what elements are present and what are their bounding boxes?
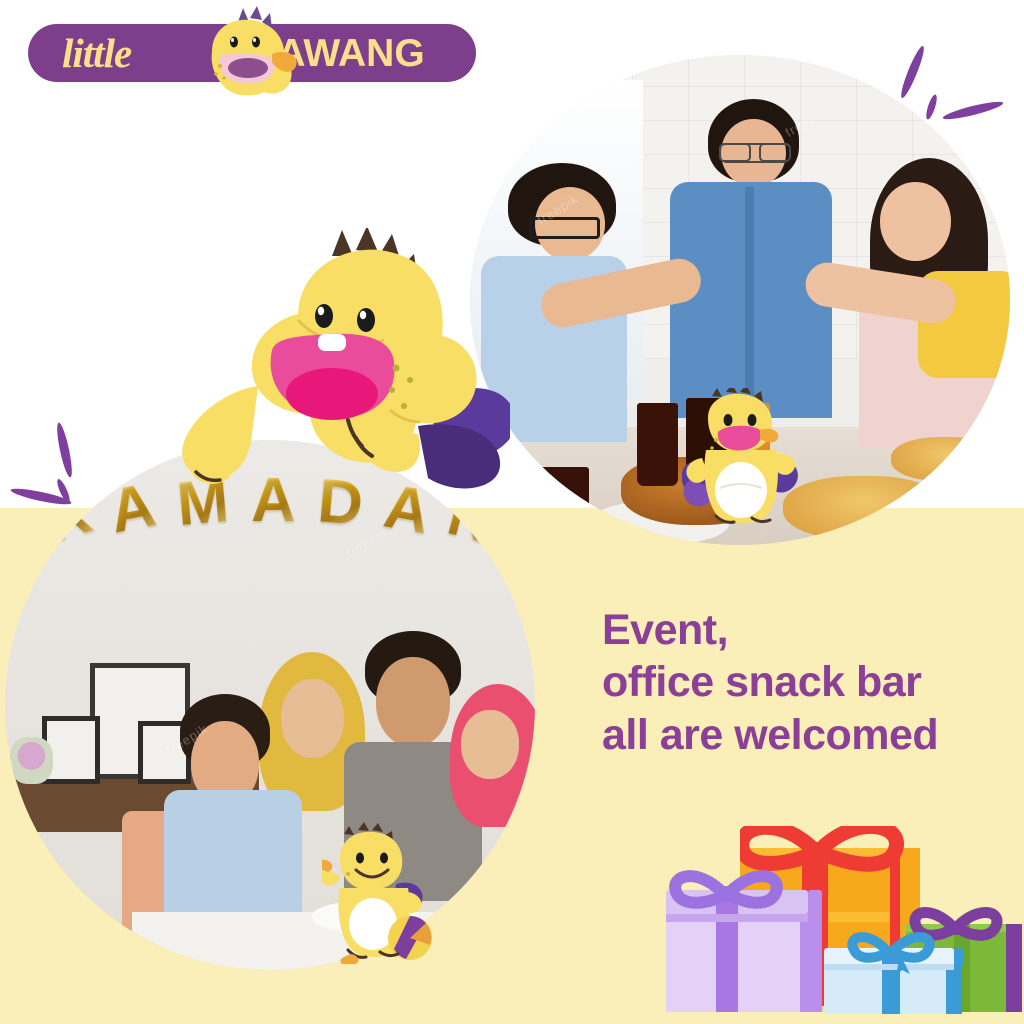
page-title: Event, office snack bar all are welcomed (602, 604, 1002, 761)
headline-line-1: Event, (602, 604, 1002, 656)
gift-box-blue (824, 930, 968, 1014)
promo-poster: freepik freepik R A M A D A N (0, 0, 1024, 1024)
gift-box-purple (666, 860, 822, 1012)
drink-glass (540, 467, 589, 536)
pizza (891, 437, 999, 481)
person-right-face (880, 182, 950, 260)
girl-face (461, 710, 519, 779)
glasses-icon (721, 143, 789, 163)
mascot-standing-family-circle (322, 818, 438, 964)
headline-line-2: office snack bar (602, 656, 1002, 708)
sparkle-accent-left (18, 418, 138, 518)
brand-logo[interactable]: little BAWANG (28, 24, 476, 82)
gift-boxes-illustration (648, 782, 1024, 1018)
glasses-icon (529, 217, 599, 239)
mascot-standing-food-circle (682, 388, 808, 530)
logo-text-little: little (62, 33, 131, 74)
mascot-large-open-mouth (180, 228, 510, 518)
flower-vase (10, 737, 52, 785)
sparkle-accent-top-right (890, 38, 1010, 138)
mother-face (281, 679, 345, 759)
father-face (376, 657, 450, 747)
ramadan-family-dinner-photo: R A M A D A N (5, 440, 535, 970)
little-bawang-chick-mascot-icon (190, 6, 306, 98)
headline-line-3: all are welcomed (602, 709, 1002, 761)
drink-glass (637, 403, 678, 486)
